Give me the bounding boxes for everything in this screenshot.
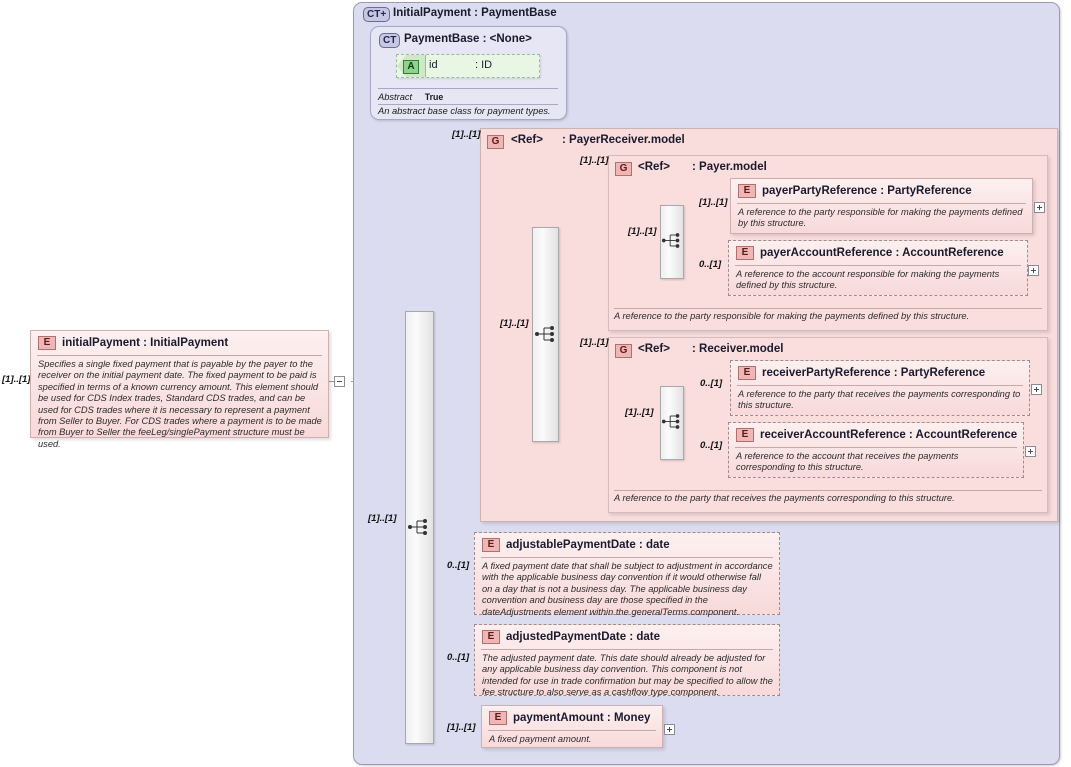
attribute-type: : ID — [475, 59, 492, 71]
attribute-id-box[interactable]: A id : ID — [396, 54, 540, 78]
e-badge-label: E — [736, 428, 754, 442]
e-badge-label: E — [738, 366, 756, 380]
element-rule — [735, 265, 1021, 266]
main-sequence-cardinality: [1]..[1] — [368, 513, 397, 524]
basetype-rule-2 — [378, 104, 558, 105]
element-payerpartyreference[interactable]: EpayerPartyReference : PartyReference A … — [730, 178, 1033, 234]
element-rule — [488, 730, 656, 731]
expander-payerpartyreference[interactable] — [1034, 202, 1045, 213]
source-element-initialpayment[interactable]: EinitialPayment : InitialPayment Specifi… — [30, 330, 329, 438]
element-description: A reference to the account that receives… — [736, 451, 1017, 474]
basetype-property-key: Abstract — [378, 92, 412, 102]
e-badge-label: E — [38, 336, 56, 350]
basetype-rule — [378, 88, 558, 89]
element-title: EadjustedPaymentDate : date — [482, 630, 775, 644]
receiveraccountreference-cardinality: 0..[1] — [700, 440, 722, 451]
root-badge-ct: CT+ — [363, 6, 390, 24]
source-element-description: Specifies a single fixed payment that is… — [38, 359, 322, 450]
adjustedpaymentdate-cardinality: 0..[1] — [447, 652, 469, 663]
basetype-property-value: True — [425, 92, 444, 102]
element-receiveraccountreference[interactable]: EreceiverAccountReference : AccountRefer… — [728, 422, 1024, 478]
e-badge-label: E — [736, 246, 754, 260]
basetype-title: PaymentBase : <None> — [404, 33, 532, 45]
paymentamount-cardinality: [1]..[1] — [447, 722, 476, 733]
element-name: payerAccountReference : AccountReference — [760, 247, 1004, 259]
receiverpartyreference-cardinality: 0..[1] — [700, 378, 722, 389]
e-badge-label: E — [482, 630, 500, 644]
element-title: EpaymentAmount : Money — [489, 711, 658, 725]
element-rule — [481, 557, 773, 558]
element-name: paymentAmount : Money — [513, 712, 650, 724]
g-badge-label: G — [487, 135, 504, 149]
payerreceiver-ref-label: <Ref> — [511, 134, 543, 146]
element-description: The adjusted payment date. This date sho… — [482, 653, 773, 699]
root-title: InitialPayment : PaymentBase — [393, 7, 557, 19]
element-description: A reference to the party responsible for… — [738, 207, 1026, 230]
element-receiverpartyreference[interactable]: EreceiverPartyReference : PartyReference… — [730, 360, 1030, 416]
source-element-rule — [37, 355, 322, 356]
adjustablepaymentdate-cardinality: 0..[1] — [447, 560, 469, 571]
payeraccountreference-cardinality: 0..[1] — [699, 259, 721, 270]
attribute-badge-a: A — [403, 58, 419, 76]
attribute-name: id — [429, 59, 438, 71]
source-element-cardinality: [1]..[1] — [2, 374, 31, 385]
payer-group-rule — [614, 308, 1042, 309]
sequence-icon — [407, 517, 431, 537]
source-element-name: initialPayment : InitialPayment — [62, 337, 228, 349]
receiver-title: : Receiver.model — [692, 343, 783, 355]
basetype-description: An abstract base class for payment types… — [378, 106, 562, 117]
g-badge-label: G — [615, 344, 632, 358]
element-name: receiverPartyReference : PartyReference — [762, 367, 985, 379]
g-badge-label: G — [615, 162, 632, 176]
ct-badge-label: CT — [379, 33, 400, 48]
expander-payeraccountreference[interactable] — [1028, 265, 1039, 276]
receiver-badge-g: G — [615, 342, 632, 360]
e-badge-label: E — [489, 711, 507, 725]
receiver-cardinality: [1]..[1] — [580, 337, 609, 348]
element-name: receiverAccountReference : AccountRefere… — [760, 429, 1017, 441]
a-badge-label: A — [403, 60, 419, 74]
element-rule — [735, 447, 1017, 448]
ct-badge-label: CT+ — [363, 7, 390, 22]
basetype-property-row: Abstract True — [378, 92, 443, 102]
e-badge-label: E — [482, 538, 500, 552]
element-title: EpayerAccountReference : AccountReferenc… — [736, 246, 1023, 260]
sequence-icon — [661, 231, 683, 250]
element-adjustedpaymentdate[interactable]: EadjustedPaymentDate : date The adjusted… — [474, 624, 780, 696]
element-name: adjustedPaymentDate : date — [506, 631, 660, 643]
source-element-title: EinitialPayment : InitialPayment — [38, 336, 324, 350]
expander-receiverpartyreference[interactable] — [1031, 384, 1042, 395]
element-name: payerPartyReference : PartyReference — [762, 185, 972, 197]
element-title: EpayerPartyReference : PartyReference — [738, 184, 1028, 198]
expander-paymentamount[interactable] — [664, 724, 675, 735]
receiver-group-description: A reference to the party that receives t… — [614, 493, 1044, 504]
sequence-icon — [661, 412, 683, 431]
payer-group-description: A reference to the party responsible for… — [614, 311, 1044, 322]
payerpartyreference-cardinality: [1]..[1] — [699, 197, 728, 208]
payer-ref-label: <Ref> — [638, 161, 670, 173]
schema-diagram-canvas: CT+ InitialPayment : PaymentBase CT Paym… — [0, 0, 1071, 767]
payer-title: : Payer.model — [692, 161, 767, 173]
element-name: adjustablePaymentDate : date — [506, 539, 670, 551]
element-title: EreceiverAccountReference : AccountRefer… — [736, 428, 1019, 442]
expander-receiveraccountreference[interactable] — [1025, 446, 1036, 457]
element-adjustablepaymentdate[interactable]: EadjustablePaymentDate : date A fixed pa… — [474, 532, 780, 615]
e-badge-label: E — [738, 184, 756, 198]
element-description: A fixed payment date that shall be subje… — [482, 561, 773, 618]
payerreceiver-title: : PayerReceiver.model — [562, 134, 685, 146]
payerreceiver-badge-g: G — [487, 133, 504, 151]
basetype-badge-ct: CT — [379, 32, 400, 50]
payer-sequence-cardinality: [1]..[1] — [628, 226, 657, 237]
source-element-collapse-toggle[interactable] — [334, 376, 345, 387]
payer-badge-g: G — [615, 160, 632, 178]
element-rule — [737, 203, 1026, 204]
element-payeraccountreference[interactable]: EpayerAccountReference : AccountReferenc… — [728, 240, 1028, 296]
element-title: EreceiverPartyReference : PartyReference — [738, 366, 1025, 380]
element-title: EadjustablePaymentDate : date — [482, 538, 775, 552]
payer-cardinality: [1]..[1] — [580, 155, 609, 166]
receiver-ref-label: <Ref> — [638, 343, 670, 355]
element-description: A reference to the account responsible f… — [736, 269, 1021, 292]
sequence-icon — [534, 324, 558, 344]
element-paymentamount[interactable]: EpaymentAmount : Money A fixed payment a… — [481, 705, 663, 748]
receiver-group-rule — [614, 490, 1042, 491]
payerreceiver-sequence-cardinality: [1]..[1] — [500, 318, 529, 329]
receiver-sequence-cardinality: [1]..[1] — [625, 407, 654, 418]
element-description: A reference to the party that receives t… — [738, 389, 1023, 412]
element-rule — [481, 649, 773, 650]
payerreceiver-cardinality: [1]..[1] — [452, 129, 481, 140]
element-rule — [737, 385, 1023, 386]
element-description: A fixed payment amount. — [489, 734, 656, 745]
